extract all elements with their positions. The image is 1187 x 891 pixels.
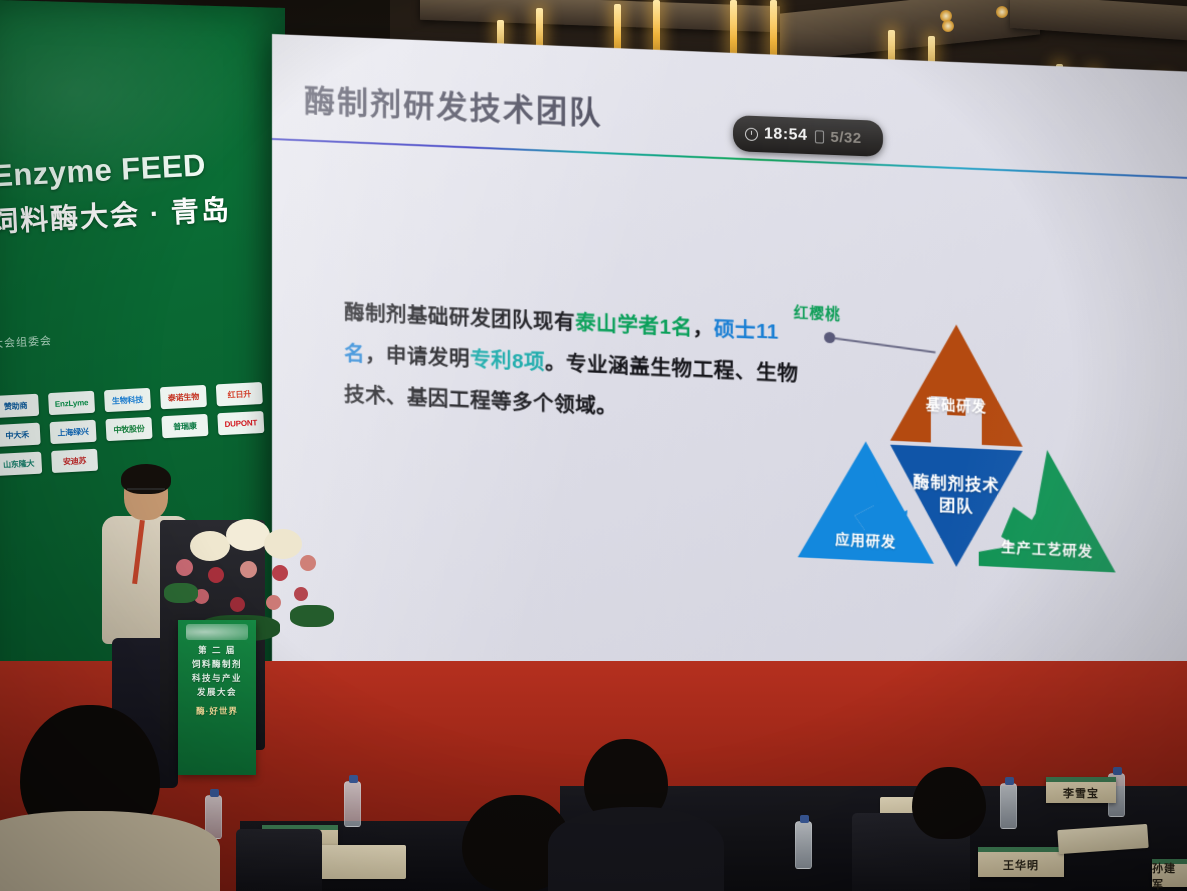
flower-rose bbox=[266, 595, 281, 610]
water-bottle bbox=[344, 781, 361, 827]
podium-banner: 第 二 届 饲料酶制剂 科技与产业 发展大会 酶·好世界 bbox=[178, 620, 256, 775]
ceiling-spotlight bbox=[996, 6, 1008, 18]
sponsor-logo: 赞助商 bbox=[0, 394, 39, 418]
triangle-cycle-diagram: 红樱桃 基础研发 应用研发 bbox=[784, 297, 1130, 656]
chair-back bbox=[236, 829, 322, 891]
triangle-label-center: 酶制剂技术团队 bbox=[907, 472, 1005, 520]
camera-status-overlay: 18:54 5/32 bbox=[733, 115, 883, 157]
flower-rose bbox=[176, 559, 193, 576]
audience-shoulders bbox=[0, 811, 220, 891]
flower-rose bbox=[294, 587, 308, 601]
water-bottle bbox=[1000, 783, 1017, 829]
flower-rose bbox=[272, 565, 288, 581]
speaker-glasses bbox=[127, 488, 165, 497]
triangle-node-top bbox=[890, 322, 1022, 447]
body-segment: ，申请发明 bbox=[365, 343, 470, 371]
name-card: 李雪宝 bbox=[1046, 777, 1116, 803]
flower-rose bbox=[300, 555, 316, 571]
sponsor-logo: 山东隆大 bbox=[0, 452, 42, 476]
annotation-label-cherry: 红樱桃 bbox=[794, 301, 841, 324]
flower-foliage bbox=[164, 583, 198, 603]
sponsor-logo-grid: 赞助商 EnzLyme 生物科技 泰诺生物 红日升 中大禾 上海绿兴 中牧股份 … bbox=[0, 382, 266, 476]
sponsor-logo: 泰诺生物 bbox=[160, 385, 207, 409]
audience-shoulders bbox=[548, 807, 724, 891]
ceiling-spotlight bbox=[942, 20, 954, 32]
highlight-patent-count: 专利8项 bbox=[470, 348, 545, 374]
clock-icon bbox=[745, 127, 758, 140]
flower-foliage bbox=[290, 605, 334, 627]
sponsor-logo: DUPONT bbox=[217, 411, 264, 435]
flower-lily bbox=[190, 531, 230, 561]
banner-subtitle: 大会组委会 bbox=[0, 332, 52, 351]
slide-body-text: 酶制剂基础研发团队现有泰山学者1名，硕士11名，申请发明专利8项。专业涵盖生物工… bbox=[344, 292, 800, 436]
podium-banner-line4: 发展大会 bbox=[197, 686, 237, 698]
sponsor-logo: EnzLyme bbox=[48, 391, 95, 415]
conference-photo-scene: Enzyme FEED 饲料酶大会 · 青岛 大会组委会 赞助商 EnzLyme… bbox=[0, 0, 1187, 891]
slide-divider-line bbox=[272, 138, 1187, 180]
podium-banner-line2: 饲料酶制剂 bbox=[192, 658, 242, 670]
flower-rose bbox=[230, 597, 245, 612]
body-segment: ， bbox=[693, 317, 714, 341]
sponsor-logo: 生物科技 bbox=[104, 388, 151, 412]
podium-banner-line3: 科技与产业 bbox=[192, 672, 242, 684]
camera-time: 18:54 bbox=[764, 125, 807, 145]
slide-title: 酶制剂研发技术团队 bbox=[304, 75, 602, 133]
podium-banner-logo bbox=[186, 624, 248, 640]
name-card: 孙建军 bbox=[1152, 859, 1187, 887]
sponsor-logo: 安迪苏 bbox=[51, 449, 98, 473]
name-card: 王华明 bbox=[978, 847, 1064, 877]
sponsor-logo: 上海绿兴 bbox=[50, 420, 97, 444]
water-bottle bbox=[795, 821, 812, 869]
sponsor-logo: 中大禾 bbox=[0, 423, 41, 447]
flower-rose bbox=[240, 561, 257, 578]
battery-icon bbox=[815, 130, 824, 143]
body-segment: 酶制剂基础研发团队现有 bbox=[344, 301, 575, 334]
sponsor-logo: 中牧股份 bbox=[105, 417, 152, 441]
sponsor-logo: 红日升 bbox=[216, 382, 263, 406]
sponsor-logo: 普瑞康 bbox=[161, 414, 208, 438]
highlight-taishan-scholar: 泰山学者1名 bbox=[575, 312, 692, 340]
audience-head bbox=[912, 767, 986, 839]
podium-banner-line1: 第 二 届 bbox=[198, 644, 236, 656]
podium-banner-slogan: 酶·好世界 bbox=[196, 705, 238, 717]
flower-lily bbox=[264, 529, 302, 559]
projection-screen: 酶制剂研发技术团队 酶制剂基础研发团队现有泰山学者1名，硕士11名，申请发明专利… bbox=[272, 34, 1187, 759]
camera-counter: 5/32 bbox=[830, 128, 861, 146]
flower-rose bbox=[208, 567, 224, 583]
